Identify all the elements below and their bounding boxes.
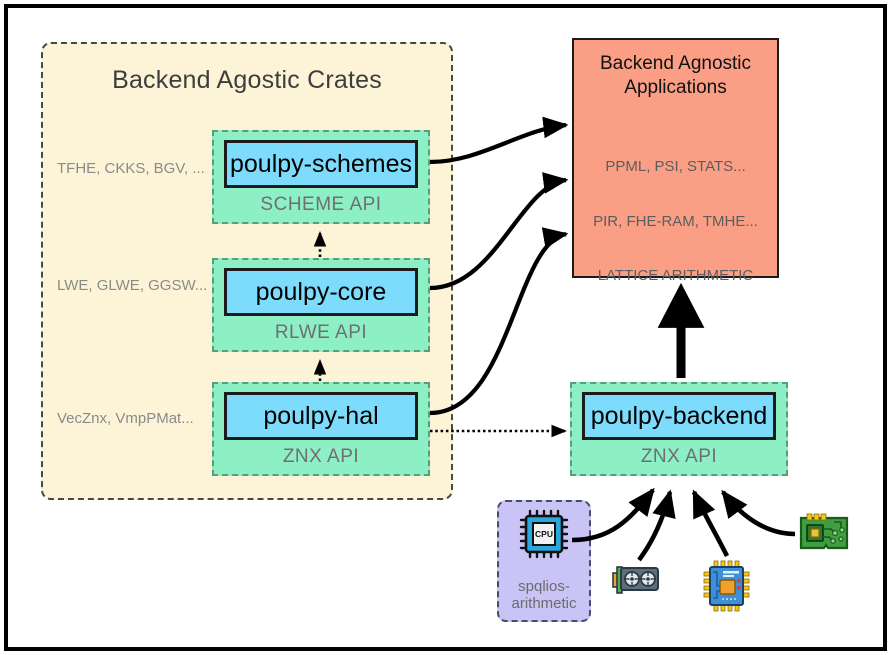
backend-agnostic-applications-box: Backend Agnostic Applications PPML, PSI,…	[572, 38, 779, 278]
arrow-gpu-to-backend	[639, 492, 670, 560]
side-label-hal: VecZnx, VmpPMat...	[57, 410, 194, 427]
application-item-pir: PIR, FHE-RAM, TMHE...	[574, 213, 777, 230]
layer-poulpy-backend[interactable]: poulpy-backend ZNX API	[570, 382, 788, 476]
spqlios-label: spqlios- arithmetic	[499, 578, 589, 613]
gpu-card-icon	[612, 563, 660, 597]
application-item-ppml: PPML, PSI, STATS...	[574, 158, 777, 175]
arrow-fpga-to-backend	[694, 492, 727, 556]
application-item-lattice: LATTICE ARITHMETIC	[574, 267, 777, 284]
api-label-rlwe: RLWE API	[214, 322, 428, 344]
api-label-znx: ZNX API	[214, 446, 428, 468]
spqlios-label-line-2: arithmetic	[511, 595, 576, 612]
diagram-canvas: Backend Agostic Crates TFHE, CKKS, BGV, …	[0, 0, 891, 655]
side-label-core: LWE, GLWE, GGSW...	[57, 277, 207, 294]
crate-poulpy-hal[interactable]: poulpy-hal	[224, 392, 418, 440]
fpga-chip-icon	[703, 560, 753, 612]
api-label-scheme: SCHEME API	[214, 194, 428, 216]
applications-title-line-1: Backend Agnostic	[600, 53, 751, 74]
layer-poulpy-schemes[interactable]: poulpy-schemes SCHEME API	[212, 130, 430, 224]
side-label-schemes: TFHE, CKKS, BGV, ...	[57, 160, 205, 177]
circuit-board-icon	[798, 512, 850, 554]
applications-title-line-2: Applications	[624, 77, 726, 98]
cpu-chip-icon: CPU	[518, 508, 570, 560]
spqlios-label-line-1: spqlios-	[518, 578, 570, 595]
arrow-pcb-to-backend	[723, 492, 795, 534]
crate-poulpy-backend[interactable]: poulpy-backend	[582, 392, 776, 440]
crate-poulpy-core[interactable]: poulpy-core	[224, 268, 418, 316]
layer-poulpy-hal[interactable]: poulpy-hal ZNX API	[212, 382, 430, 476]
crates-panel-title: Backend Agostic Crates	[41, 66, 453, 95]
crate-poulpy-schemes[interactable]: poulpy-schemes	[224, 140, 418, 188]
applications-title: Backend Agnostic Applications	[574, 52, 777, 100]
api-label-znx-backend: ZNX API	[572, 446, 786, 468]
layer-poulpy-core[interactable]: poulpy-core RLWE API	[212, 258, 430, 352]
svg-text:CPU: CPU	[535, 529, 553, 539]
